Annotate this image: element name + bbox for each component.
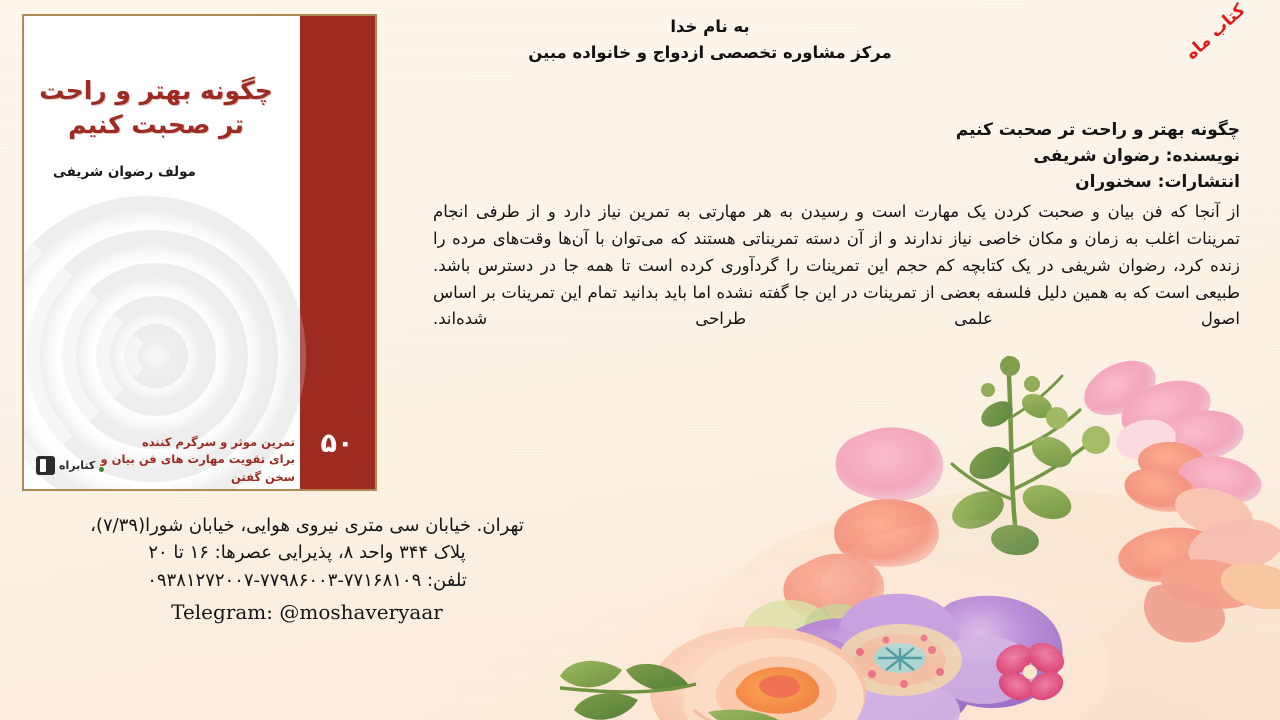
book-cover-title: چگونه بهتر و راحت تر صحبت کنیم: [25, 74, 287, 142]
book-meta: چگونه بهتر و راحت تر صحبت کنیم نویسنده: …: [433, 118, 1240, 195]
logo-dot-icon: [99, 467, 104, 472]
book-cover-image: چگونه بهتر و راحت تر صحبت کنیم مولف رضوا…: [22, 14, 377, 491]
book-icon: [36, 456, 55, 475]
book-summary-paragraph: از آنجا که فن بیان و صحبت کردن یک مهارت …: [433, 199, 1240, 333]
telegram-handle: Telegram: @moshaveryaar: [52, 596, 562, 628]
publisher-logo-label: کتابراه: [59, 459, 95, 472]
book-cover-subtitle-line-1: تمرین موثر و سرگرم کننده: [95, 434, 295, 451]
header-line-2: مرکز مشاوره تخصصی ازدواج و خانواده مبین: [430, 40, 990, 66]
header-line-1: به نام خدا: [430, 14, 990, 40]
book-cover-subtitle-line-2: برای تقویت مهارت های فن بیان و سخن گفتن: [95, 451, 295, 486]
book-description-block: چگونه بهتر و راحت تر صحبت کنیم نویسنده: …: [433, 118, 1240, 333]
book-of-the-month-badge: کتاب ماه: [1182, 0, 1250, 64]
book-title: چگونه بهتر و راحت تر صحبت کنیم: [433, 118, 1240, 144]
slide-canvas: چگونه بهتر و راحت تر صحبت کنیم مولف رضوا…: [0, 0, 1280, 720]
address-line-1: تهران. خیابان سی متری نیروی هوایی، خیابا…: [52, 512, 562, 539]
book-cover-number: ۵۰: [307, 428, 367, 459]
address-line-2: پلاک ۳۴۴ واحد ۸، پذیرایی عصرها: ۱۶ تا ۲۰: [52, 539, 562, 566]
telephone-line: تلفن: ۷۷۱۶۸۱۰۹-۷۷۹۸۶۰۰۳-۰۹۳۸۱۲۷۲۰۰۷: [52, 567, 562, 594]
publisher-logo: کتابراه: [36, 456, 104, 475]
book-publisher: انتشارات: سخنوران: [433, 170, 1240, 196]
contact-info: تهران. خیابان سی متری نیروی هوایی، خیابا…: [52, 512, 562, 628]
floral-decoration: [560, 340, 1280, 720]
header: به نام خدا مرکز مشاوره تخصصی ازدواج و خا…: [430, 14, 990, 67]
book-cover-subtitle: تمرین موثر و سرگرم کننده برای تقویت مهار…: [95, 434, 295, 486]
book-author: نویسنده: رضوان شریفی: [433, 144, 1240, 170]
book-cover-author: مولف رضوان شریفی: [53, 164, 283, 180]
